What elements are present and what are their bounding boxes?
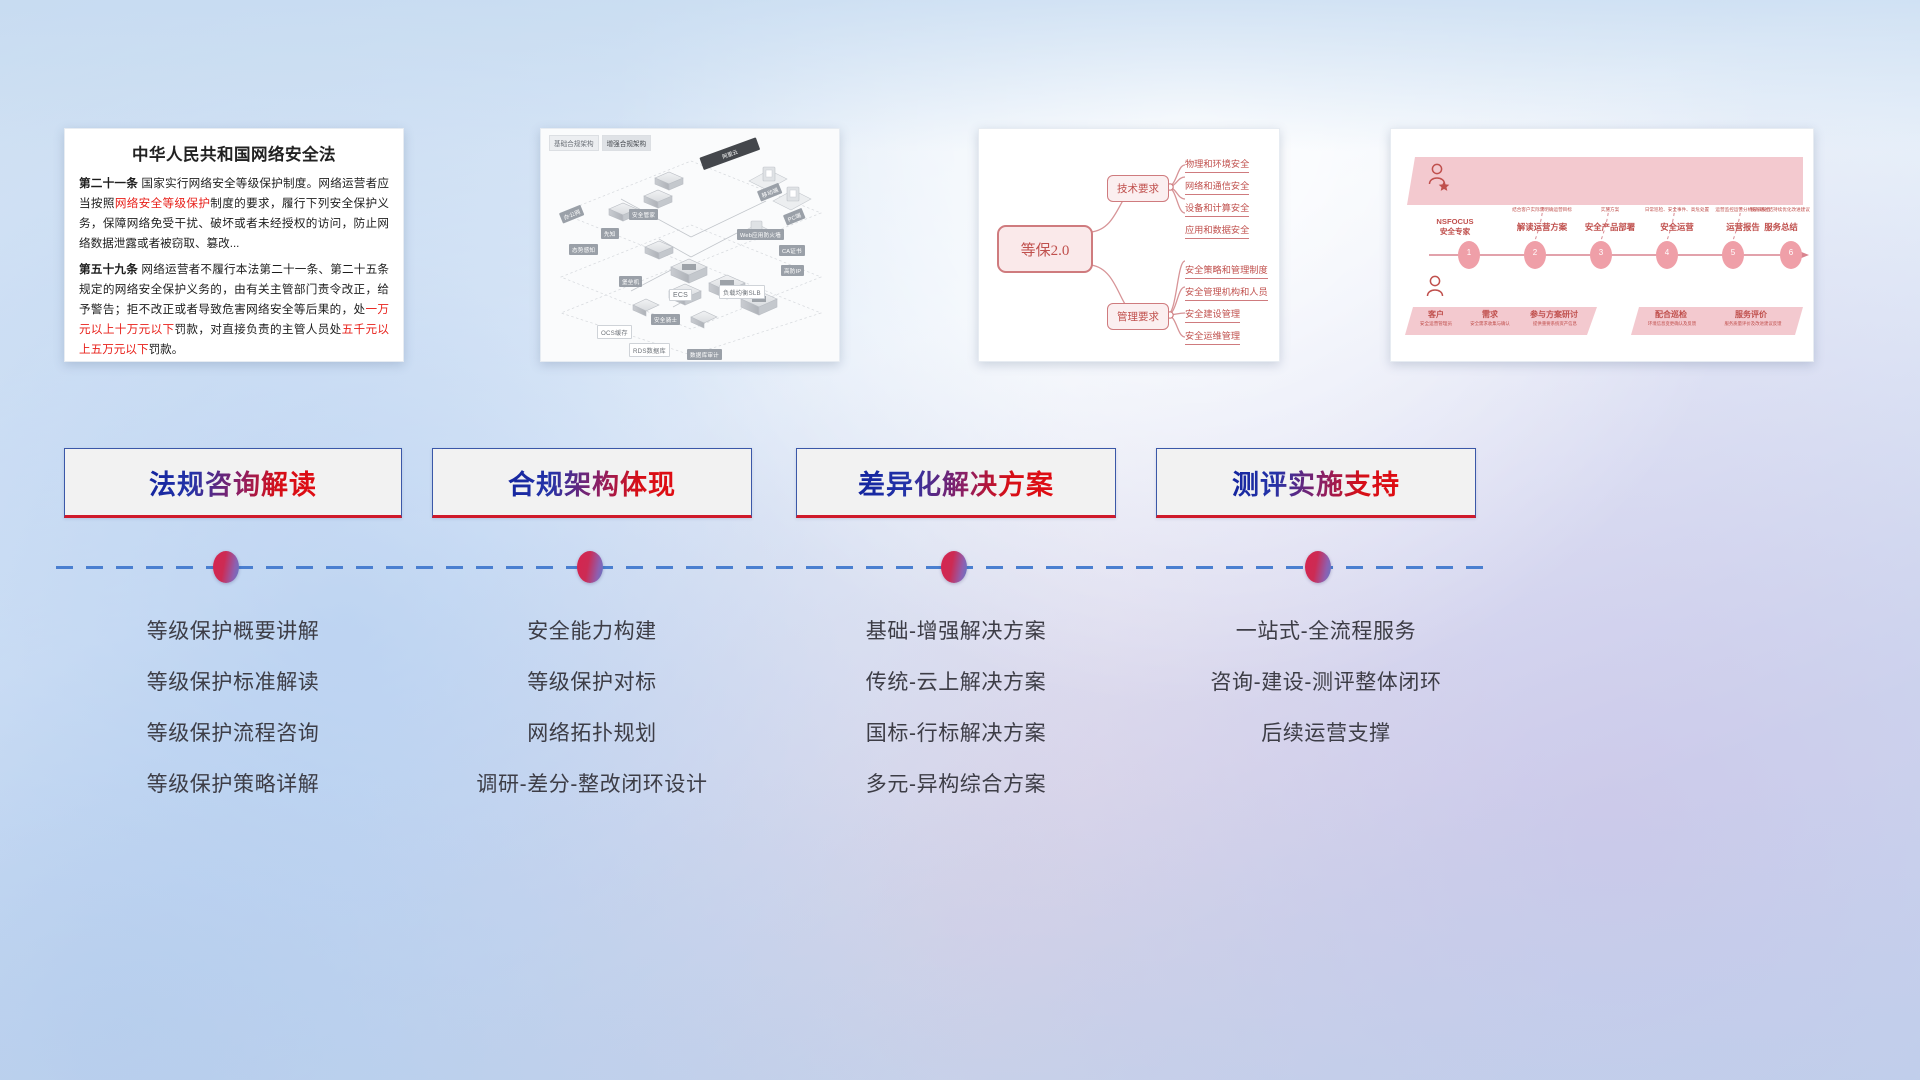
timeline-dot-4[interactable] [1305, 551, 1331, 583]
cybersecurity-law-card[interactable]: 中华人民共和国网络安全法 第二十一条 国家实行网络安全等级保护制度。网络运营者应… [64, 128, 404, 362]
mindmap-branch-technical: 技术要求 [1107, 175, 1169, 202]
stage-5-subtitle: 服务期总结持续优化改进建议 [1747, 207, 1813, 213]
mindmap-leaf-app-data: 应用和数据安全 [1185, 222, 1249, 239]
service-list-compliance-architecture: 安全能力构建 等级保护对标 网络拓扑规划 调研-差分-整改闭环设计 [432, 606, 752, 810]
list-item: 等级保护对标 [432, 657, 752, 708]
law-card-body: 中华人民共和国网络安全法 第二十一条 国家实行网络安全等级保护制度。网络运营者应… [65, 129, 403, 361]
timeline-dot-3[interactable] [941, 551, 967, 583]
list-item: 等级保护概要讲解 [64, 606, 402, 657]
brand-subtitle: 安全专家 [1440, 227, 1470, 236]
arch-node-situation-awareness: 态势感知 [569, 244, 598, 255]
mindmap-branch-management: 管理要求 [1107, 303, 1169, 330]
customer-person-icon [1428, 276, 1443, 296]
arch-node-security-steward: 安全管家 [629, 209, 658, 220]
arch-node-rds-database: RDS数据库 [629, 343, 670, 357]
timeline [56, 566, 1496, 570]
section-header-label-2: 合规架构体现 [508, 463, 676, 502]
section-header-row: 法规咨询解读 合规架构体现 差异化解决方案 测评实施支持 [0, 448, 1920, 520]
section-header-compliance-architecture[interactable]: 合规架构体现 [432, 448, 752, 518]
list-item: 等级保护策略详解 [64, 759, 402, 810]
bottom-item-3-sub: 环境信息变更确认及反馈 [1637, 321, 1707, 327]
section-header-label-1: 法规咨询解读 [149, 463, 317, 502]
law-seg-2-4: 罚款。 [149, 343, 184, 356]
law-seg-1-1: 网络安全等级保护 [115, 197, 210, 210]
arch-node-ca-certificate: CA证书 [779, 245, 805, 256]
list-item: 基础-增强解决方案 [796, 606, 1116, 657]
architecture-tab-basic[interactable]: 基础合规架构 [549, 135, 599, 151]
brand-label: NSFOCUS 安全专家 [1425, 217, 1485, 237]
service-list-regulation-consulting: 等级保护概要讲解 等级保护标准解读 等级保护流程咨询 等级保护策略详解 [64, 606, 402, 810]
section-header-assessment-support[interactable]: 测评实施支持 [1156, 448, 1476, 518]
compliance-architecture-card[interactable]: 基础合规架构 增强合规架构 [540, 128, 840, 362]
security-operation-card[interactable]: NSFOCUS 安全专家 解读运营方案 结合客户实际需明确运营目标 安全产品部署… [1390, 128, 1814, 362]
arch-node-waf: Web应用防火墙 [737, 229, 784, 240]
customer-role-sub: 安全运营管理员 [1405, 321, 1467, 327]
operation-roadmap: NSFOCUS 安全专家 解读运营方案 结合客户实际需明确运营目标 安全产品部署… [1391, 129, 1813, 361]
brand-name: NSFOCUS [1436, 217, 1473, 226]
arch-node-anti-ddos-ip: 高防IP [781, 265, 804, 276]
bottom-item-4-sub: 服务质量评价及改进建议反馈 [1717, 321, 1789, 327]
list-item: 调研-差分-整改闭环设计 [432, 759, 752, 810]
bottom-item-3-title: 配合巡检 [1643, 309, 1699, 320]
step-number-3: 3 [1593, 248, 1609, 257]
list-item: 等级保护标准解读 [64, 657, 402, 708]
bottom-item-2-title: 参与方案研讨 [1521, 309, 1587, 320]
mindmap-leaf-device-compute: 设备和计算安全 [1185, 200, 1249, 217]
arch-node-bastion-host: 堡垒机 [619, 276, 642, 287]
architecture-diagram: 基础合规架构 增强合规架构 [541, 129, 839, 361]
section-header-label-4: 测评实施支持 [1232, 463, 1400, 502]
image-card-row: 中华人民共和国网络安全法 第二十一条 国家实行网络安全等级保护制度。网络运营者应… [0, 128, 1920, 368]
arch-node-xianzhi: 先知 [601, 228, 619, 239]
step-number-2: 2 [1527, 248, 1543, 257]
mindmap-leaf-ops-mgmt: 安全运维管理 [1185, 328, 1240, 345]
step-number-4: 4 [1659, 248, 1675, 257]
service-list-differentiated-solution: 基础-增强解决方案 传统-云上解决方案 国标-行标解决方案 多元-异构综合方案 [796, 606, 1116, 810]
arch-node-slb: 负载均衡SLB [719, 285, 765, 299]
section-header-regulation-consulting[interactable]: 法规咨询解读 [64, 448, 402, 518]
architecture-tabs[interactable]: 基础合规架构 增强合规架构 [549, 135, 651, 151]
step-number-1: 1 [1461, 248, 1477, 257]
step-number-5: 5 [1725, 248, 1741, 257]
architecture-tab-enhanced[interactable]: 增强合规架构 [602, 135, 652, 151]
law-paragraph-2: 第五十九条 网络运营者不履行本法第二十一条、第二十五条规定的网络安全保护义务的，… [79, 260, 389, 360]
list-item: 网络拓扑规划 [432, 708, 752, 759]
service-item-lists: 等级保护概要讲解 等级保护标准解读 等级保护流程咨询 等级保护策略详解 安全能力… [0, 606, 1920, 826]
timeline-dashed-line [56, 566, 1496, 569]
law-article-label-2: 第五十九条 [79, 263, 138, 276]
mindmap-leaf-network-comm: 网络和通信安全 [1185, 178, 1249, 195]
dengbao-mindmap-card[interactable]: 等保2.0 技术要求 管理要求 物理和环境安全 网络和通信安全 设备和计算安全 … [978, 128, 1280, 362]
list-item: 咨询-建设-测评整体闭环 [1156, 657, 1496, 708]
arch-node-db-audit: 数据库审计 [687, 349, 722, 360]
step-number-6: 6 [1783, 248, 1799, 257]
arch-node-security-knight: 安全骑士 [651, 314, 680, 325]
law-card-title: 中华人民共和国网络安全法 [79, 141, 389, 165]
bottom-item-1-title: 需求 [1467, 309, 1513, 320]
list-item: 国标-行标解决方案 [796, 708, 1116, 759]
mindmap-leaf-policy-system: 安全策略和管理制度 [1185, 262, 1268, 279]
mindmap-leaf-physical-env: 物理和环境安全 [1185, 156, 1249, 173]
list-item: 一站式-全流程服务 [1156, 606, 1496, 657]
mindmap-leaf-org-personnel: 安全管理机构和人员 [1185, 284, 1268, 301]
law-paragraph-1: 第二十一条 国家实行网络安全等级保护制度。网络运营者应当按照网络安全等级保护制度… [79, 174, 389, 254]
list-item: 传统-云上解决方案 [796, 657, 1116, 708]
list-item: 安全能力构建 [432, 606, 752, 657]
mindmap-diagram: 等保2.0 技术要求 管理要求 物理和环境安全 网络和通信安全 设备和计算安全 … [979, 129, 1279, 361]
bottom-item-2-sub: 提供重要系统资产信息 [1519, 321, 1591, 327]
list-item: 等级保护流程咨询 [64, 708, 402, 759]
section-header-label-3: 差异化解决方案 [858, 463, 1054, 502]
section-header-differentiated-solution[interactable]: 差异化解决方案 [796, 448, 1116, 518]
mindmap-leaf-construction-mgmt: 安全建设管理 [1185, 306, 1240, 323]
law-seg-2-2: 罚款，对直接负责的主管人员处 [174, 323, 341, 336]
arch-node-ocs-cache: OCS缓存 [597, 325, 632, 339]
list-item: 后续运营支撑 [1156, 708, 1496, 759]
bottom-item-1-sub: 安全需求收集与确认 [1459, 321, 1521, 327]
arch-node-ecs: ECS [669, 289, 692, 301]
timeline-dot-1[interactable] [213, 551, 239, 583]
mindmap-root-node: 等保2.0 [997, 225, 1093, 273]
list-item: 多元-异构综合方案 [796, 759, 1116, 810]
law-article-label-1: 第二十一条 [79, 177, 138, 190]
bottom-item-4-title: 服务评价 [1723, 309, 1779, 320]
timeline-dot-2[interactable] [577, 551, 603, 583]
customer-role-label: 客户 [1417, 309, 1455, 320]
stage-5-title: 服务总结 [1751, 221, 1811, 233]
service-list-assessment-support: 一站式-全流程服务 咨询-建设-测评整体闭环 后续运营支撑 [1156, 606, 1496, 759]
